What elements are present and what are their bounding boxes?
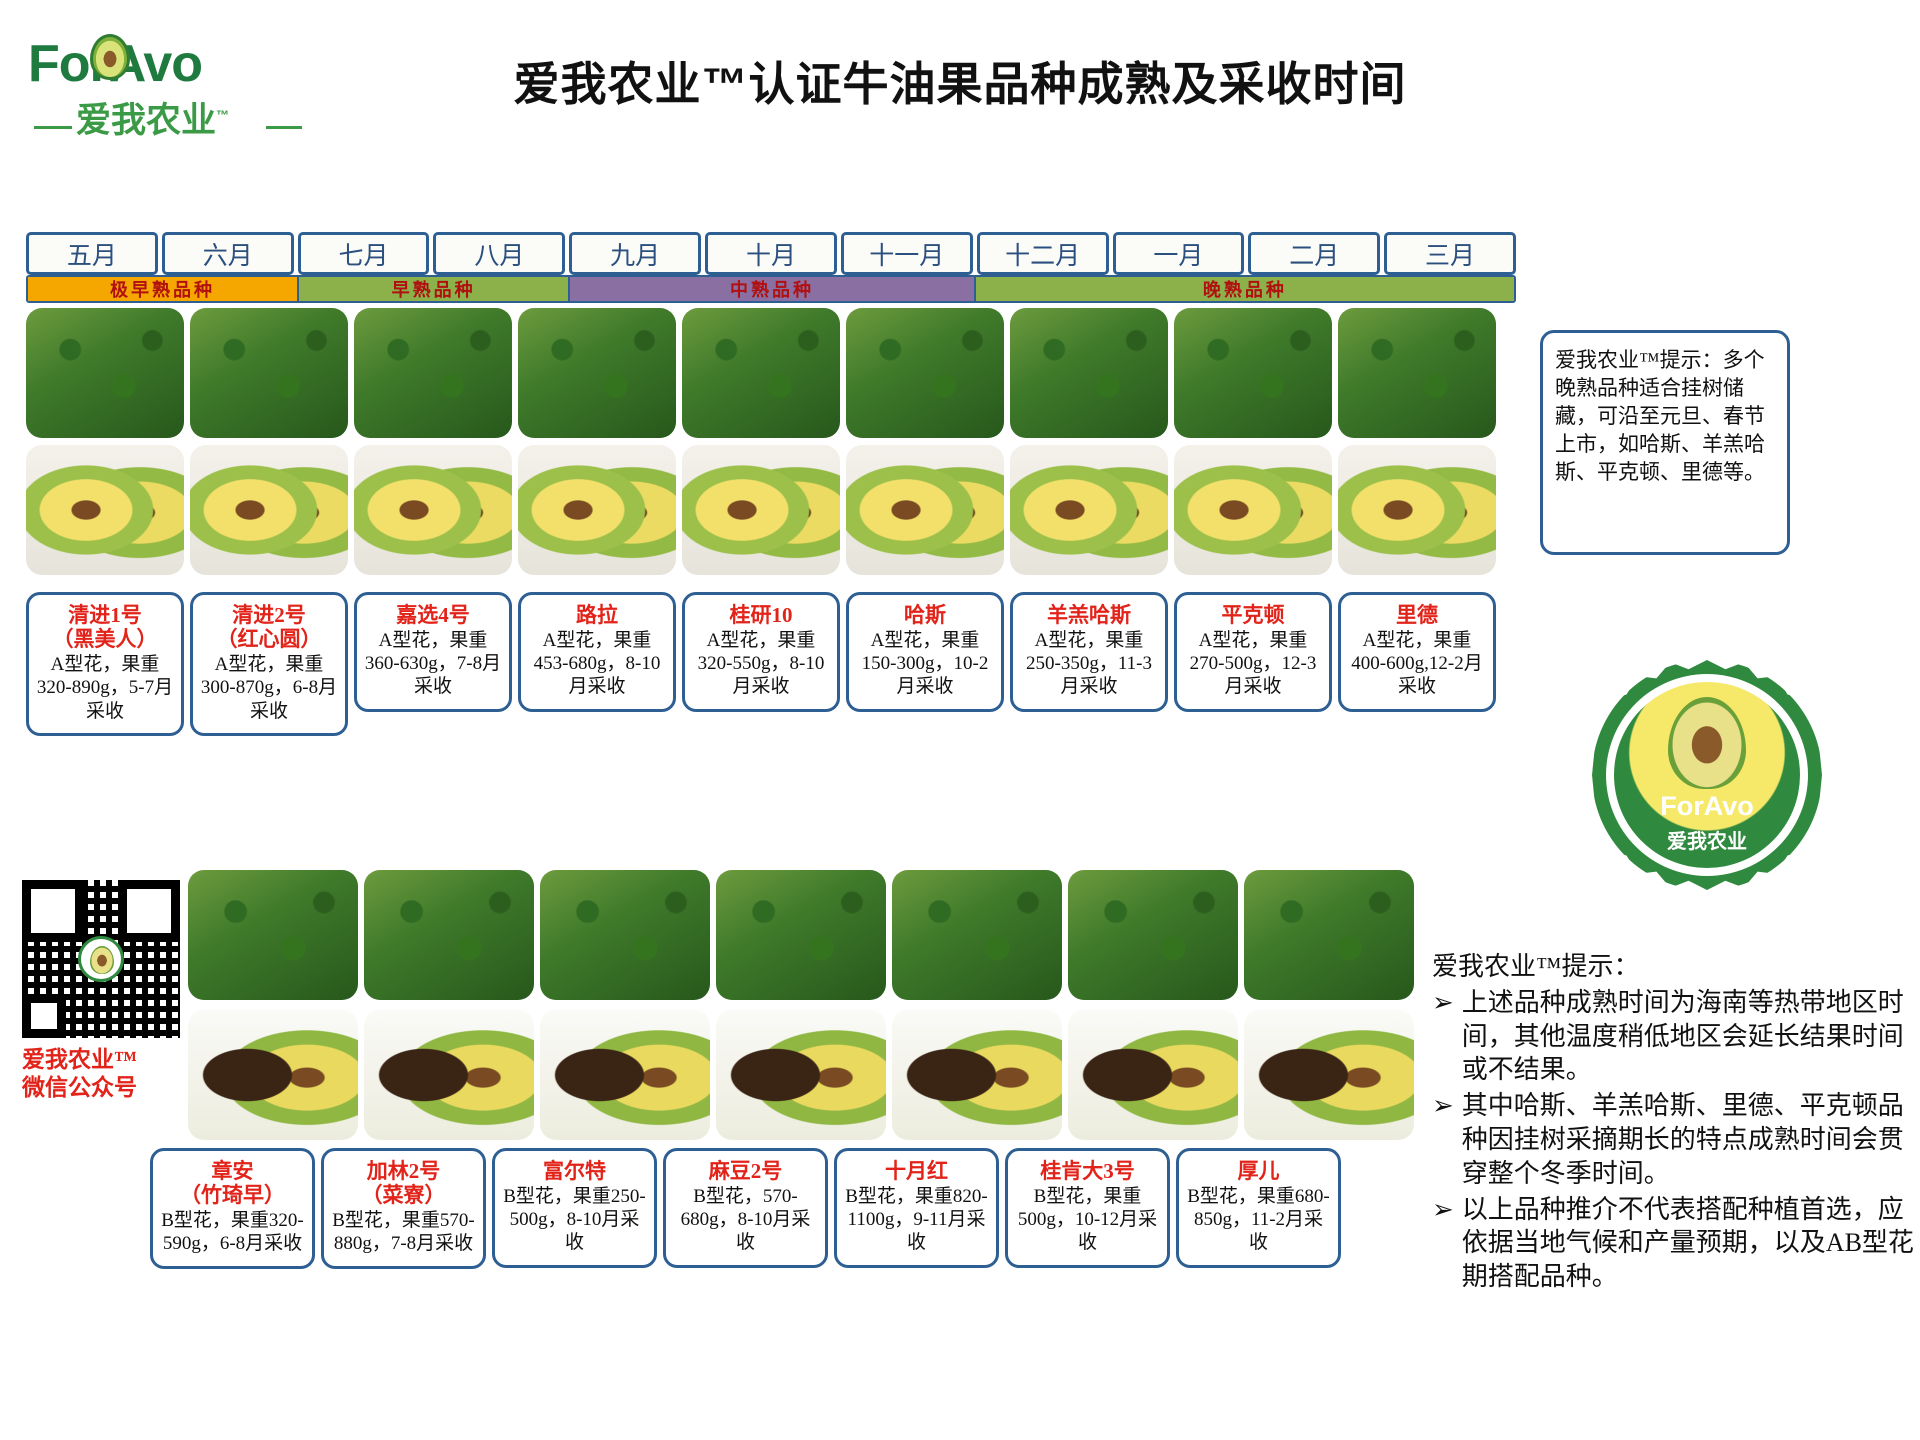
- variety-card-a-2[interactable]: 清进2号（红心圆）A型花，果重300-870g，6-8月采收: [190, 592, 348, 736]
- page-title: 爱我农业™认证牛油果品种成熟及采收时间: [430, 48, 1490, 114]
- month-cell-3: 七月: [298, 232, 430, 275]
- month-cell-2: 六月: [162, 232, 294, 275]
- variety-description: B型花，果重570-880g，7-8月采收: [330, 1209, 477, 1255]
- note-text: 以上品种推介不代表搭配种植首选，应依据当地气候和产量预期，以及AB型花期搭配品种…: [1462, 1193, 1917, 1294]
- variety-card-b-2[interactable]: 加林2号（菜寮）B型花，果重570-880g，7-8月采收: [321, 1148, 486, 1269]
- variety-fruit-photo-9: [1338, 445, 1496, 575]
- variety-fruit-photo-2: [190, 445, 348, 575]
- variety-name: 哈斯: [855, 603, 995, 627]
- brand-logo: ForAvo 爱我农业™: [28, 38, 303, 143]
- month-cell-11: 三月: [1384, 232, 1516, 275]
- variety-description: B型花，570-680g，8-10月采收: [672, 1185, 819, 1255]
- variety-tree-photo-b-6: [1068, 870, 1238, 1000]
- variety-description: A型花，果重300-870g，6-8月采收: [199, 653, 339, 723]
- variety-name: 里德: [1347, 603, 1487, 627]
- seal-chinese: 爱我农业: [1592, 825, 1822, 854]
- variety-card-a-4[interactable]: 路拉A型花，果重453-680g，8-10月采收: [518, 592, 676, 712]
- variety-alias: （菜寮）: [330, 1183, 477, 1207]
- variety-tree-photo-2: [190, 308, 348, 438]
- variety-fruit-photo-7: [1010, 445, 1168, 575]
- variety-description: A型花，果重400-600g,12-2月采收: [1347, 629, 1487, 699]
- variety-card-a-1[interactable]: 清进1号（黑美人）A型花，果重320-890g，5-7月采收: [26, 592, 184, 736]
- variety-fruit-photo-b-7: [1244, 1010, 1414, 1140]
- wechat-qr-block: 爱我农业™ 微信公众号: [22, 880, 182, 1101]
- variety-fruit-photo-6: [846, 445, 1004, 575]
- variety-tree-photo-4: [518, 308, 676, 438]
- tip-box-top: 爱我农业™提示：多个晚熟品种适合挂树储藏，可沿至元旦、春节上市，如哈斯、羊羔哈斯…: [1540, 330, 1790, 555]
- variety-tree-photo-b-2: [364, 870, 534, 1000]
- month-cell-8: 十二月: [977, 232, 1109, 275]
- note-bullet-icon: ➢: [1432, 986, 1454, 1087]
- variety-tree-photo-b-7: [1244, 870, 1414, 1000]
- variety-tree-photo-1: [26, 308, 184, 438]
- note-bullet-icon: ➢: [1432, 1193, 1454, 1294]
- maturity-band-1: 极早熟品种: [28, 277, 299, 301]
- variety-card-a-3[interactable]: 嘉选4号A型花，果重360-630g，7-8月采收: [354, 592, 512, 712]
- variety-name: 清进1号: [35, 603, 175, 627]
- variety-tree-photo-7: [1010, 308, 1168, 438]
- variety-tree-photo-8: [1174, 308, 1332, 438]
- note-item-2: ➢其中哈斯、羊羔哈斯、里德、平克顿品种因挂树采摘期长的特点成熟时间会贯穿整个冬季…: [1432, 1089, 1917, 1190]
- logo-wordmark: ForAvo: [28, 38, 303, 90]
- variety-description: A型花，果重150-300g，10-2月采收: [855, 629, 995, 699]
- qr-caption: 爱我农业™ 微信公众号: [22, 1046, 182, 1101]
- variety-card-b-7[interactable]: 厚儿B型花，果重680-850g，11-2月采收: [1176, 1148, 1341, 1268]
- bottom-notes: 爱我农业™提示： ➢上述品种成熟时间为海南等热带地区时间，其他温度稍低地区会延长…: [1432, 950, 1917, 1294]
- variety-fruit-photo-b-4: [716, 1010, 886, 1140]
- variety-card-a-8[interactable]: 平克顿A型花，果重270-500g，12-3月采收: [1174, 592, 1332, 712]
- variety-tree-photo-b-4: [716, 870, 886, 1000]
- maturity-band-2: 早熟品种: [299, 277, 570, 301]
- variety-name: 加林2号: [330, 1159, 477, 1183]
- qr-avocado-icon: [90, 946, 114, 974]
- variety-fruit-photo-8: [1174, 445, 1332, 575]
- month-cell-4: 八月: [433, 232, 565, 275]
- qr-finder-bottom-left: [22, 994, 66, 1038]
- photo-row-fruit-top: [26, 445, 1496, 575]
- maturity-band-row: 极早熟品种早熟品种中熟品种晚熟品种: [26, 275, 1516, 303]
- variety-description: B型花，果重320-590g，6-8月采收: [159, 1209, 306, 1255]
- variety-cards-row-b: 章安（竹琦早）B型花，果重320-590g，6-8月采收加林2号（菜寮）B型花，…: [150, 1148, 1360, 1269]
- variety-fruit-photo-1: [26, 445, 184, 575]
- month-cell-7: 十一月: [841, 232, 973, 275]
- logo-chinese: 爱我农业™: [28, 92, 303, 143]
- variety-description: A型花，果重320-550g，8-10月采收: [691, 629, 831, 699]
- variety-card-b-3[interactable]: 富尔特B型花，果重250-500g，8-10月采收: [492, 1148, 657, 1268]
- variety-fruit-photo-b-5: [892, 1010, 1062, 1140]
- qr-code-image[interactable]: [22, 880, 180, 1038]
- note-text: 上述品种成熟时间为海南等热带地区时间，其他温度稍低地区会延长结果时间或不结果。: [1462, 986, 1917, 1087]
- variety-description: A型花，果重360-630g，7-8月采收: [363, 629, 503, 699]
- variety-name: 路拉: [527, 603, 667, 627]
- foravo-seal-logo: ForAvo 爱我农业: [1592, 660, 1822, 890]
- variety-tree-photo-b-5: [892, 870, 1062, 1000]
- variety-fruit-photo-4: [518, 445, 676, 575]
- note-item-3: ➢以上品种推介不代表搭配种植首选，应依据当地气候和产量预期，以及AB型花期搭配品…: [1432, 1193, 1917, 1294]
- variety-tree-photo-9: [1338, 308, 1496, 438]
- variety-card-a-7[interactable]: 羊羔哈斯A型花，果重250-350g，11-3月采收: [1010, 592, 1168, 712]
- variety-alias: （红心圆）: [199, 627, 339, 651]
- variety-cards-row-a: 清进1号（黑美人）A型花，果重320-890g，5-7月采收清进2号（红心圆）A…: [26, 592, 1516, 736]
- maturity-band-4: 晚熟品种: [976, 277, 1514, 301]
- logo-chinese-text: 爱我农业: [76, 101, 216, 140]
- variety-tree-photo-b-1: [188, 870, 358, 1000]
- variety-name: 嘉选4号: [363, 603, 503, 627]
- note-item-1: ➢上述品种成熟时间为海南等热带地区时间，其他温度稍低地区会延长结果时间或不结果。: [1432, 986, 1917, 1087]
- variety-fruit-photo-b-3: [540, 1010, 710, 1140]
- qr-caption-line1: 爱我农业™: [22, 1046, 182, 1074]
- variety-description: B型花，果重820-1100g，9-11月采收: [843, 1185, 990, 1255]
- note-text: 其中哈斯、羊羔哈斯、里德、平克顿品种因挂树采摘期长的特点成熟时间会贯穿整个冬季时…: [1462, 1089, 1917, 1190]
- avocado-icon: [90, 34, 130, 80]
- variety-description: B型花，果重680-850g，11-2月采收: [1185, 1185, 1332, 1255]
- variety-fruit-photo-3: [354, 445, 512, 575]
- variety-alias: （竹琦早）: [159, 1183, 306, 1207]
- bottom-notes-list: ➢上述品种成熟时间为海南等热带地区时间，其他温度稍低地区会延长结果时间或不结果。…: [1432, 986, 1917, 1294]
- photo-row-tree-top: [26, 308, 1496, 438]
- month-cell-5: 九月: [569, 232, 701, 275]
- qr-logo-badge: [78, 936, 124, 982]
- seal-text: ForAvo 爱我农业: [1592, 791, 1822, 854]
- variety-name: 章安: [159, 1159, 306, 1183]
- variety-name: 羊羔哈斯: [1019, 603, 1159, 627]
- variety-card-a-5[interactable]: 桂研10A型花，果重320-550g，8-10月采收: [682, 592, 840, 712]
- seal-wordmark: ForAvo: [1592, 791, 1822, 822]
- variety-fruit-photo-b-6: [1068, 1010, 1238, 1140]
- variety-description: A型花，果重270-500g，12-3月采收: [1183, 629, 1323, 699]
- variety-description: B型花，果重500g，10-12月采收: [1014, 1185, 1161, 1255]
- variety-card-b-4[interactable]: 麻豆2号B型花，570-680g，8-10月采收: [663, 1148, 828, 1268]
- variety-name: 桂肯大3号: [1014, 1159, 1161, 1183]
- variety-name: 麻豆2号: [672, 1159, 819, 1183]
- variety-tree-photo-6: [846, 308, 1004, 438]
- photo-row-tree-bottom: [188, 870, 1414, 1000]
- variety-fruit-photo-5: [682, 445, 840, 575]
- month-header-row: 五月六月七月八月九月十月十一月十二月一月二月三月: [26, 232, 1516, 275]
- month-cell-10: 二月: [1248, 232, 1380, 275]
- variety-description: A型花，果重453-680g，8-10月采收: [527, 629, 667, 699]
- logo-tm-mark: ™: [216, 107, 229, 122]
- variety-description: B型花，果重250-500g，8-10月采收: [501, 1185, 648, 1255]
- month-cell-1: 五月: [26, 232, 158, 275]
- bottom-notes-title: 爱我农业™提示：: [1432, 950, 1917, 984]
- variety-name: 富尔特: [501, 1159, 648, 1183]
- variety-description: A型花，果重250-350g，11-3月采收: [1019, 629, 1159, 699]
- variety-fruit-photo-b-1: [188, 1010, 358, 1140]
- variety-card-a-6[interactable]: 哈斯A型花，果重150-300g，10-2月采收: [846, 592, 1004, 712]
- page-header: ForAvo 爱我农业™ 爱我农业™认证牛油果品种成熟及采收时间: [0, 0, 1920, 165]
- variety-card-b-6[interactable]: 桂肯大3号B型花，果重500g，10-12月采收: [1005, 1148, 1170, 1268]
- maturity-band-3: 中熟品种: [570, 277, 976, 301]
- variety-name: 厚儿: [1185, 1159, 1332, 1183]
- variety-name: 清进2号: [199, 603, 339, 627]
- variety-fruit-photo-b-2: [364, 1010, 534, 1140]
- month-cell-9: 一月: [1113, 232, 1245, 275]
- variety-name: 平克顿: [1183, 603, 1323, 627]
- variety-card-b-5[interactable]: 十月红B型花，果重820-1100g，9-11月采收: [834, 1148, 999, 1268]
- qr-caption-line2: 微信公众号: [22, 1074, 182, 1102]
- variety-tree-photo-b-3: [540, 870, 710, 1000]
- variety-name: 十月红: [843, 1159, 990, 1183]
- month-cell-6: 十月: [705, 232, 837, 275]
- variety-card-a-9[interactable]: 里德A型花，果重400-600g,12-2月采收: [1338, 592, 1496, 712]
- variety-tree-photo-3: [354, 308, 512, 438]
- variety-card-b-1[interactable]: 章安（竹琦早）B型花，果重320-590g，6-8月采收: [150, 1148, 315, 1269]
- variety-name: 桂研10: [691, 603, 831, 627]
- variety-tree-photo-5: [682, 308, 840, 438]
- note-bullet-icon: ➢: [1432, 1089, 1454, 1190]
- variety-alias: （黑美人）: [35, 627, 175, 651]
- photo-row-fruit-bottom: [188, 1010, 1414, 1140]
- variety-description: A型花，果重320-890g，5-7月采收: [35, 653, 175, 723]
